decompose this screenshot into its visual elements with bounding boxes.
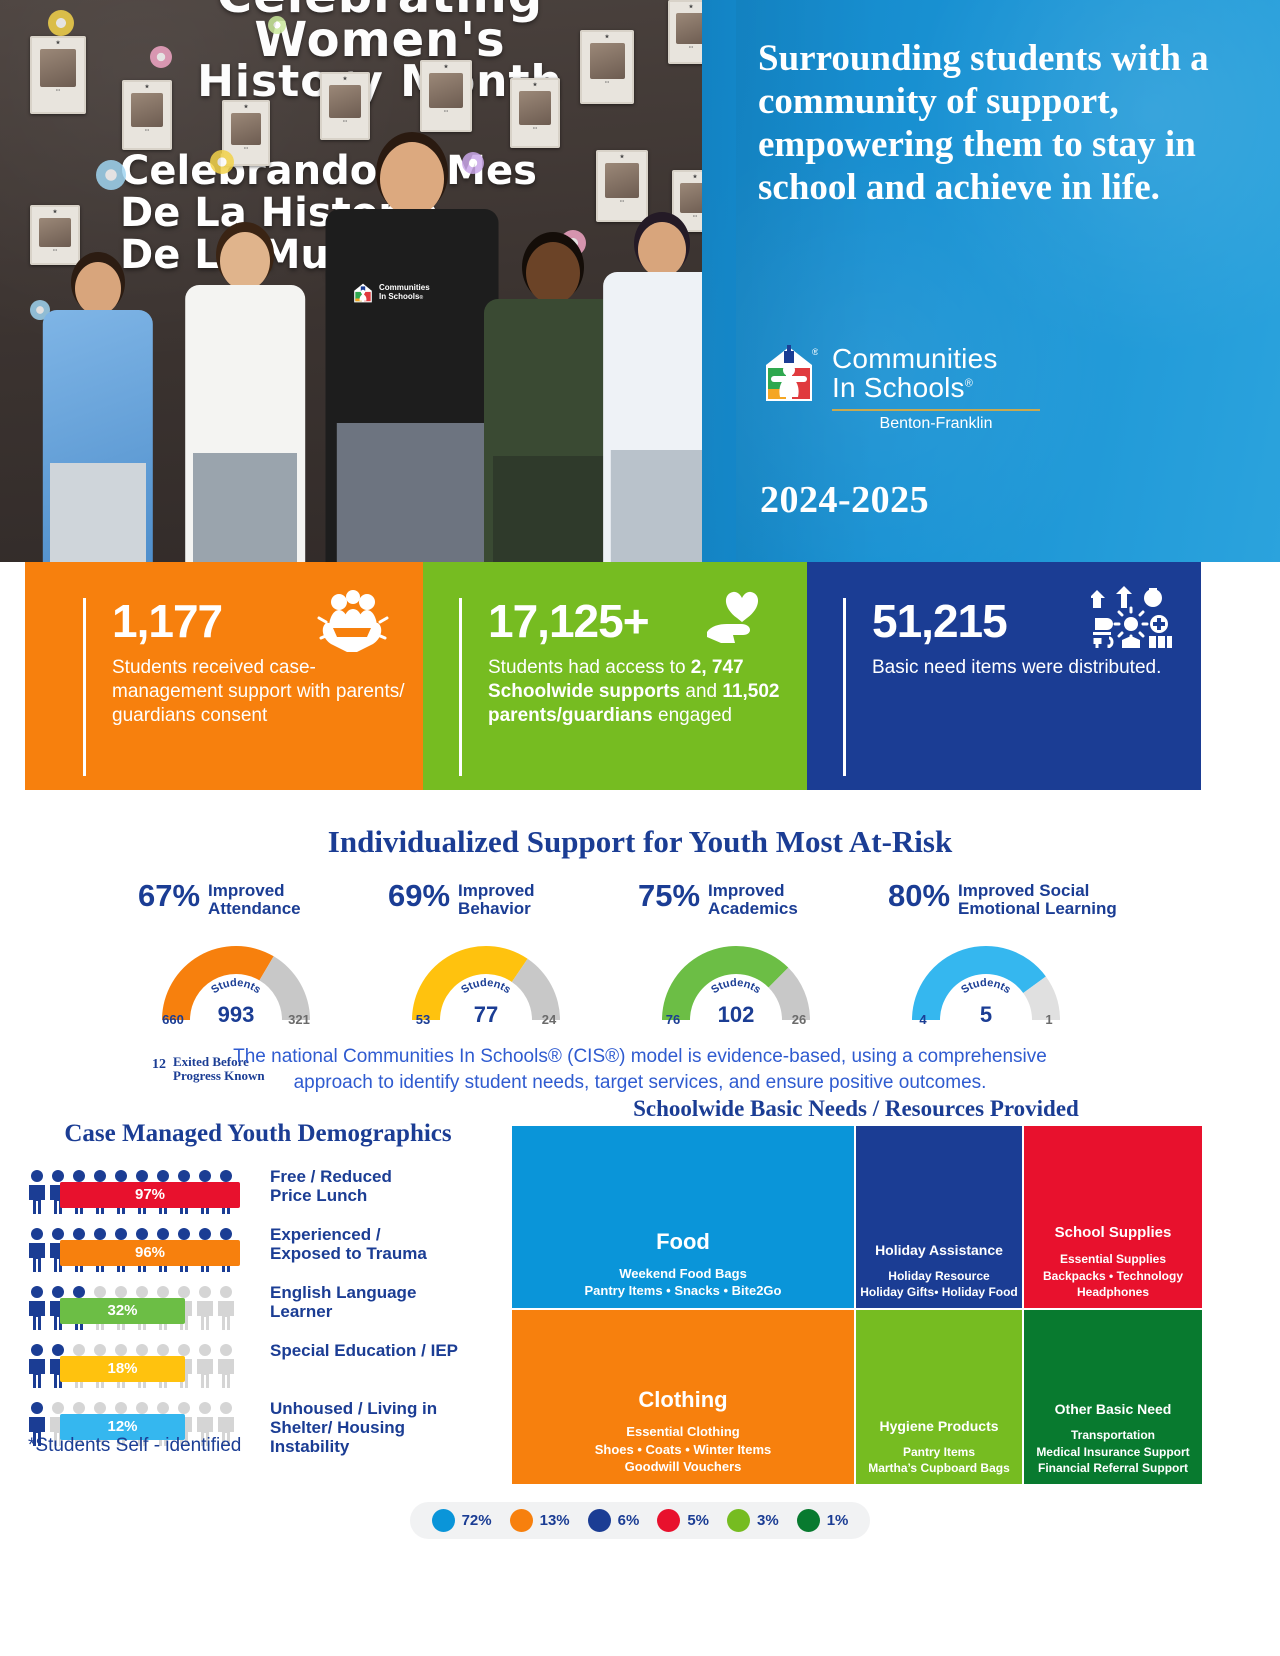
poster-caption: ••• [674, 213, 702, 218]
paper-flower-3 [210, 150, 234, 174]
gauge-head: 80% Improved SocialEmotional Learning [888, 880, 1120, 919]
student-0 [38, 262, 158, 562]
gauge-donut: Students 5 4 1 [896, 932, 1076, 1028]
tile-sub-line-0: Essential Clothing [595, 1423, 772, 1441]
legend-color-dot [657, 1509, 680, 1532]
person-icon [28, 1169, 46, 1215]
affiliate-name: Benton-Franklin [832, 415, 1040, 433]
demographic-bar: 18% [60, 1356, 185, 1382]
stat-description: Basic need items were distributed. [872, 656, 1172, 680]
individualized-support-title: Individualized Support for Youth Most At… [0, 824, 1280, 860]
gauge-total: 993 [218, 1002, 255, 1027]
poster-portrait [329, 85, 361, 118]
legend-percent: 5% [687, 1512, 709, 1529]
gauge-1: 67% ImprovedAttendance Students 993 660 … [120, 880, 370, 1028]
basic-needs-cluster-icon [1091, 586, 1177, 653]
demographic-label: Special Education / IEP [270, 1341, 510, 1360]
gauge-total: 5 [980, 1002, 992, 1027]
poster-5: ★••• [510, 78, 560, 148]
gauge-left-value: 660 [162, 1012, 184, 1027]
poster-portrait [590, 43, 625, 79]
poster-portrait [429, 73, 463, 108]
poster-tag: ★ [598, 152, 646, 160]
gauge-head: 67% ImprovedAttendance [138, 880, 370, 919]
gauge-left-value: 53 [416, 1012, 430, 1027]
hand-heart-icon [703, 588, 771, 653]
poster-tag: ★ [422, 62, 470, 70]
person-slot-0 [28, 1227, 46, 1278]
panel-edge-fade [702, 0, 736, 562]
poster-portrait [676, 13, 702, 44]
poster-6: ★••• [580, 30, 634, 104]
person-icon [196, 1285, 214, 1331]
legend-color-dot [432, 1509, 455, 1532]
poster-caption: ••• [124, 127, 170, 132]
demographics-rows: 97% Free / ReducedPrice Lunch [28, 1165, 508, 1463]
gauge-total: 77 [474, 1002, 498, 1027]
gauge-left-value: 76 [666, 1012, 680, 1027]
treemap-tile-school-supplies[interactable]: School Supplies Essential SuppliesBackpa… [1024, 1126, 1202, 1308]
tile-subitems: Holiday ResourceHoliday Gifts• Holiday F… [860, 1268, 1018, 1300]
legend-color-dot [510, 1509, 533, 1532]
gauge-right-value: 1 [1045, 1012, 1052, 1027]
gauge-left-value: 4 [919, 1012, 927, 1027]
cis-house-icon [352, 282, 374, 304]
treemap-tile-holiday-assistance[interactable]: Holiday Assistance Holiday ResourceHolid… [856, 1126, 1022, 1308]
gauge-center-word: Students [709, 977, 763, 996]
tile-name: School Supplies [1055, 1224, 1172, 1241]
cis-model-note: The national Communities In Schools® (CI… [0, 1044, 1280, 1095]
hero-headline: Surrounding students with a community of… [758, 38, 1258, 210]
student-4 [598, 222, 702, 562]
poster-7: ★••• [668, 0, 702, 64]
self-identified-footnote: *Students Self - identified [28, 1435, 241, 1457]
poster-tag: ★ [582, 32, 632, 40]
tile-sub-line-2: Goodwill Vouchers [595, 1458, 772, 1476]
poster-tag: ★ [224, 102, 268, 110]
poster-tag: ★ [32, 207, 78, 215]
tile-sub-line-0: Pantry Items [868, 1444, 1010, 1460]
legend-item-5: 1% [797, 1509, 849, 1532]
stat-card-1: 1,177 Students received case-management … [25, 562, 423, 790]
person-slot-0 [28, 1169, 46, 1220]
gauge-donut: Students 77 53 24 [396, 932, 576, 1028]
tile-name: Holiday Assistance [875, 1242, 1003, 1258]
poster-1: ★••• [122, 80, 172, 150]
tile-sub-line-1: Shoes • Coats • Winter Items [595, 1441, 772, 1459]
poster-caption: ••• [598, 198, 646, 203]
person-icon [217, 1285, 235, 1331]
gauge-donut: Students 102 76 26 [646, 932, 826, 1028]
poster-caption: ••• [32, 87, 84, 92]
hero-banner: Celebrating Women's History Month Celebr… [0, 0, 1280, 562]
demographic-percent: 32% [107, 1302, 137, 1319]
paper-flower-0 [48, 10, 74, 36]
person-slot-8 [196, 1343, 214, 1394]
tile-subitems: TransportationMedical Insurance SupportF… [1036, 1427, 1189, 1476]
model-note-line1: The national Communities In Schools® (CI… [233, 1046, 1047, 1067]
poster-tag: ★ [512, 80, 558, 88]
student-legs [193, 453, 297, 562]
gauge-4: 80% Improved SocialEmotional Learning St… [870, 880, 1120, 1028]
person-icon [217, 1343, 235, 1389]
cis-logo-wordmark: Communities In Schools® Benton-Franklin [832, 345, 1040, 433]
legend-item-4: 3% [727, 1509, 779, 1532]
poster-tag: ★ [32, 38, 84, 46]
gauge-label: Improved SocialEmotional Learning [958, 880, 1117, 919]
tile-subitems: Weekend Food BagsPantry Items • Snacks •… [585, 1265, 782, 1300]
poster-caption: ••• [224, 145, 268, 150]
cis-word-line2-text: In Schools [832, 372, 965, 403]
gauge-head: 69% ImprovedBehavior [388, 880, 620, 919]
poster-4: ★••• [420, 60, 472, 132]
stat-description: Students received case-management suppor… [112, 656, 412, 728]
gauge-percent: 67% [138, 880, 200, 911]
registered-mark: ® [965, 377, 973, 389]
gauge-label: ImprovedAcademics [708, 880, 798, 919]
tile-sub-line-1: Pantry Items • Snacks • Bite2Go [585, 1282, 782, 1300]
tile-sub-line-1: Medical Insurance Support [1036, 1444, 1189, 1460]
poster-portrait [40, 49, 76, 87]
poster-portrait [680, 183, 702, 213]
tile-sub-line-1: Martha’s Cupboard Bags [868, 1460, 1010, 1476]
poster-caption: ••• [512, 125, 558, 130]
legend-percent: 13% [540, 1512, 570, 1529]
demographic-label: Unhoused / Living inShelter/ HousingInst… [270, 1399, 510, 1457]
tile-sub-line-0: Essential Supplies [1043, 1251, 1183, 1267]
student-head [638, 222, 686, 277]
tile-name: Clothing [638, 1387, 727, 1413]
poster-portrait [605, 163, 639, 198]
student-head [220, 232, 270, 290]
poster-tag: ★ [124, 82, 170, 90]
hero-photo: Celebrating Women's History Month Celebr… [0, 0, 702, 562]
legend-item-2: 6% [588, 1509, 640, 1532]
gauge-label: ImprovedBehavior [458, 880, 535, 919]
tile-sub-line-2: Financial Referral Support [1036, 1460, 1189, 1476]
person-slot-9 [217, 1285, 235, 1336]
tile-sub-line-0: Transportation [1036, 1427, 1189, 1443]
demographic-percent: 97% [135, 1186, 165, 1203]
tile-sub-line-0: Weekend Food Bags [585, 1265, 782, 1283]
person-icon [196, 1343, 214, 1389]
student-legs [337, 423, 487, 562]
poster-tag: ★ [670, 2, 702, 10]
poster-caption: ••• [670, 44, 702, 49]
demographic-row: 18% Special Education / IEP [28, 1339, 508, 1397]
poster-caption: ••• [422, 108, 470, 113]
poster-caption: ••• [582, 79, 632, 84]
hero-text-panel: Surrounding students with a community of… [702, 0, 1280, 562]
legend-item-0: 72% [432, 1509, 492, 1532]
demographic-percent: 18% [107, 1360, 137, 1377]
gauge-right-value: 321 [288, 1012, 310, 1027]
gauge-3: 75% ImprovedAcademics Students 102 76 26 [620, 880, 870, 1028]
poster-10: ★••• [30, 205, 80, 265]
demographic-row: 96% Experienced /Exposed to Trauma [28, 1223, 508, 1281]
gauge-percent: 69% [388, 880, 450, 911]
tile-name: Other Basic Need [1055, 1401, 1172, 1417]
demographic-bar: 97% [60, 1182, 240, 1208]
hands-holding-people-icon [317, 588, 389, 657]
student-1 [180, 232, 310, 562]
gauge-right-value: 24 [542, 1012, 557, 1027]
person-slot-0 [28, 1285, 46, 1336]
stat-card-2: 17,125+ Students had access to 2, 747 Sc… [423, 562, 807, 790]
tile-sub-line-1: Backpacks • Technology [1043, 1268, 1183, 1284]
tile-sub-line-2: Headphones [1043, 1284, 1183, 1300]
demographic-row: 32% English LanguageLearner [28, 1281, 508, 1339]
gauge-total: 102 [718, 1002, 755, 1027]
demographic-bar: 32% [60, 1298, 185, 1324]
cis-word-line1: Communities [832, 345, 1040, 374]
poster-portrait [519, 91, 551, 125]
treemap-tile-hygiene-products[interactable]: Hygiene Products Pantry ItemsMartha’s Cu… [856, 1310, 1022, 1484]
person-icon [28, 1343, 46, 1389]
cis-logo-block: ® Communities In Schools® Benton-Frankli… [760, 345, 1040, 433]
poster-portrait [39, 218, 71, 247]
gauge-percent: 75% [638, 880, 700, 911]
paper-flower-1 [150, 46, 172, 68]
student-legs [493, 456, 613, 562]
demographic-label: Experienced /Exposed to Trauma [270, 1225, 510, 1263]
legend-color-dot [588, 1509, 611, 1532]
student-head [380, 142, 444, 216]
person-slot-0 [28, 1343, 46, 1394]
poster-3: ★••• [320, 72, 370, 140]
svg-text:®: ® [812, 347, 818, 357]
legend-color-dot [797, 1509, 820, 1532]
tile-subitems: Essential ClothingShoes • Coats • Winter… [595, 1423, 772, 1476]
paper-flower-2 [96, 160, 126, 190]
stat-card-3: 51,215 Basic need items were distributed… [807, 562, 1201, 790]
tile-subitems: Pantry ItemsMartha’s Cupboard Bags [868, 1444, 1010, 1476]
board-title-line2: History Month [120, 62, 640, 102]
person-slot-8 [196, 1285, 214, 1336]
poster-portrait [131, 93, 163, 127]
gauge-center-word: Students [209, 977, 263, 996]
poster-0: ★••• [30, 36, 86, 114]
student-head [526, 242, 580, 304]
treemap-tile-clothing[interactable]: Clothing Essential ClothingShoes • Coats… [512, 1310, 854, 1484]
legend-percent: 6% [618, 1512, 640, 1529]
demographic-percent: 96% [135, 1244, 165, 1261]
board-title: Celebrating Women's History Month [120, 0, 640, 103]
basic-needs-treemap: Food Weekend Food BagsPantry Items • Sna… [512, 1126, 1202, 1484]
demographics-title: Case Managed Youth Demographics [0, 1120, 516, 1148]
poster-8: ★••• [596, 150, 648, 222]
cis-logo-icon: ® [760, 345, 818, 405]
poster-caption: ••• [322, 118, 368, 123]
tile-name: Hygiene Products [879, 1418, 998, 1434]
model-note-line2: approach to identify student needs, targ… [294, 1072, 987, 1093]
paper-flower-7 [268, 16, 286, 34]
legend-percent: 1% [827, 1512, 849, 1529]
demographic-bar: 96% [60, 1240, 240, 1266]
gauge-head: 75% ImprovedAcademics [638, 880, 870, 919]
tshirt-logo: CommunitiesIn Schools® [352, 280, 448, 306]
treemap-title: Schoolwide Basic Needs / Resources Provi… [512, 1096, 1200, 1122]
legend-percent: 72% [462, 1512, 492, 1529]
gauge-percent: 80% [888, 880, 950, 911]
person-slot-9 [217, 1343, 235, 1394]
cis-word-line2: In Schools® [832, 374, 1040, 403]
treemap-legend-items: 72% 13% 6% 5% 3% 1% [410, 1502, 871, 1539]
poster-tag: ★ [674, 172, 702, 180]
basic-needs-cluster-icon [1091, 586, 1177, 648]
person-icon [28, 1285, 46, 1331]
legend-item-1: 13% [510, 1509, 570, 1532]
student-head [75, 262, 121, 315]
gauge-label: ImprovedAttendance [208, 880, 301, 919]
treemap-legend: 72% 13% 6% 5% 3% 1% [0, 1502, 1280, 1539]
gauge-2: 69% ImprovedBehavior Students 77 53 24 [370, 880, 620, 1028]
demographic-row: 97% Free / ReducedPrice Lunch [28, 1165, 508, 1223]
treemap-tile-food[interactable]: Food Weekend Food BagsPantry Items • Sna… [512, 1126, 854, 1308]
tile-sub-line-1: Holiday Gifts• Holiday Food [860, 1284, 1018, 1300]
poster-caption: ••• [32, 247, 78, 252]
student-legs [50, 463, 146, 562]
person-icon [28, 1227, 46, 1273]
board-title-line1: Celebrating Women's [120, 0, 640, 62]
poster-tag: ★ [322, 74, 368, 82]
hands-holding-people-icon [317, 588, 389, 652]
tile-name: Food [656, 1229, 710, 1255]
key-stats-bar: 1,177 Students received case-management … [25, 562, 1201, 790]
gauge-center-word: Students [459, 977, 513, 996]
stat-desc-bold: 2, 747 Schoolwide supports [488, 657, 744, 702]
demographic-label: Free / ReducedPrice Lunch [270, 1167, 510, 1205]
stat-description: Students had access to 2, 747 Schoolwide… [488, 656, 788, 728]
hand-heart-icon [703, 588, 771, 648]
tile-sub-line-0: Holiday Resource [860, 1268, 1018, 1284]
gauge-center-word: Students [959, 977, 1013, 996]
demographic-percent: 12% [107, 1418, 137, 1435]
outcome-gauges: 67% ImprovedAttendance Students 993 660 … [120, 880, 1180, 1028]
demographic-label: English LanguageLearner [270, 1283, 510, 1321]
legend-item-3: 5% [657, 1509, 709, 1532]
poster-portrait [231, 113, 262, 145]
tile-subitems: Essential SuppliesBackpacks • Technology… [1043, 1251, 1183, 1300]
legend-percent: 3% [757, 1512, 779, 1529]
legend-color-dot [727, 1509, 750, 1532]
gauge-donut: Students 993 660 321 [146, 932, 326, 1028]
logo-divider [832, 409, 1040, 411]
treemap-tile-other-basic-need[interactable]: Other Basic Need TransportationMedical I… [1024, 1310, 1202, 1484]
gauge-right-value: 26 [792, 1012, 806, 1027]
student-legs [611, 450, 702, 562]
report-year: 2024-2025 [760, 478, 929, 522]
